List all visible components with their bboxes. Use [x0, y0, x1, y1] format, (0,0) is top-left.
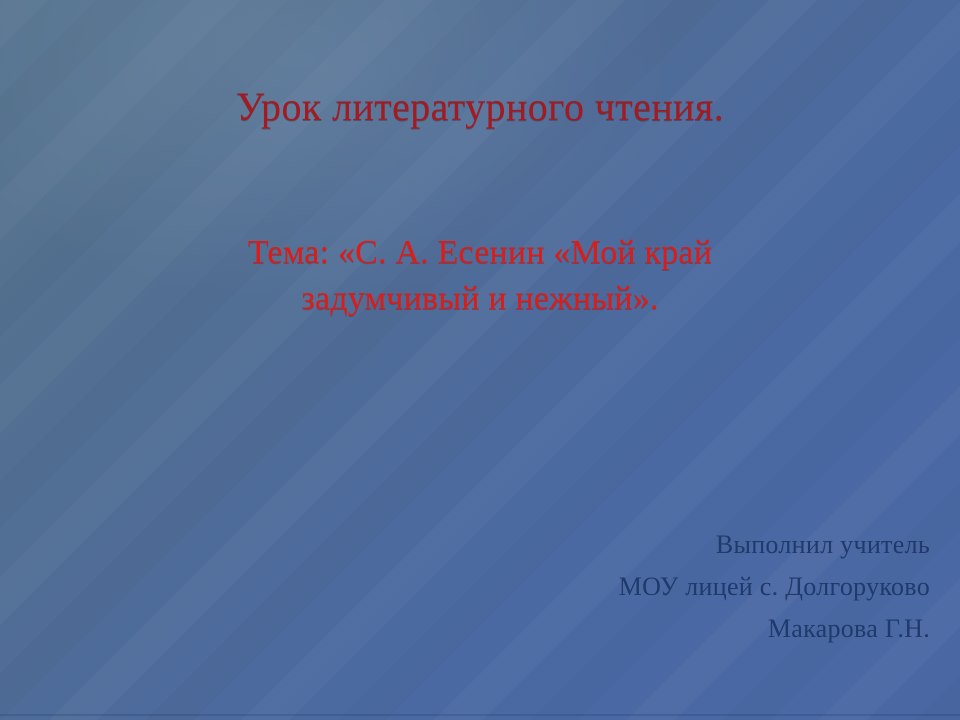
subtitle-placeholder: Тема: «С. А. Есенин «Мой край задумчивый… [0, 230, 960, 321]
subtitle-line-2: задумчивый и нежный». [120, 276, 840, 322]
author-name-line: Макарова Г.Н. [290, 608, 930, 650]
slide-content: Урок литературного чтения. Тема: «С. А. … [0, 0, 960, 720]
author-school-line: МОУ лицей с. Долгоруково [290, 566, 930, 608]
slide-title: Урок литературного чтения. [40, 84, 920, 130]
title-placeholder: Урок литературного чтения. [0, 84, 960, 130]
subtitle-line-1: Тема: «С. А. Есенин «Мой край [120, 230, 840, 276]
author-placeholder: Выполнил учитель МОУ лицей с. Долгоруков… [290, 524, 930, 650]
presentation-slide: Урок литературного чтения. Тема: «С. А. … [0, 0, 960, 720]
slide-bottom-rule [0, 714, 960, 716]
author-role-line: Выполнил учитель [290, 524, 930, 566]
